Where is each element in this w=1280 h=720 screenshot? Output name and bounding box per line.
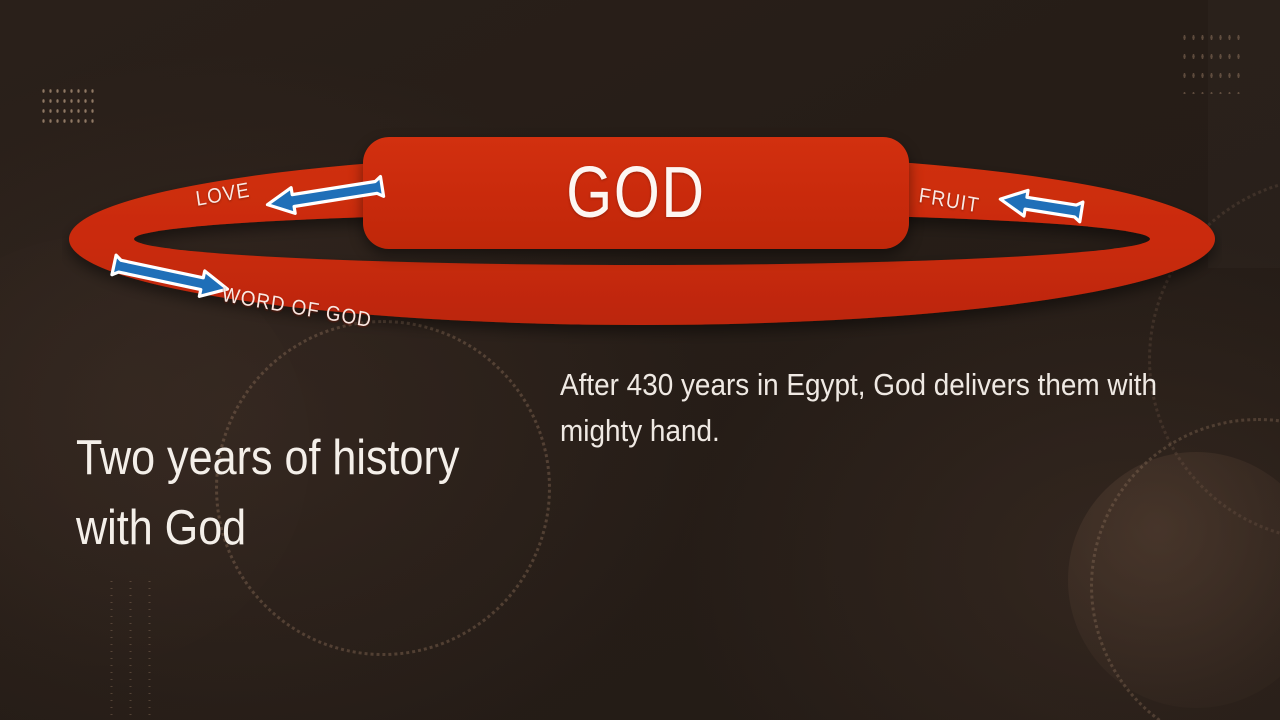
dot-grid-top-right-icon xyxy=(1180,28,1246,94)
soft-circle-right xyxy=(1068,452,1280,708)
slide-body-text: After 430 years in Egypt, God delivers t… xyxy=(560,362,1181,454)
dot-grid-top-left-icon xyxy=(40,86,96,124)
arrow-right-word-of-god xyxy=(111,252,230,302)
dotted-circle-right-icon xyxy=(1090,418,1280,720)
arrow-left-love xyxy=(265,174,384,218)
slide-canvas: GOD LOVE WORD OF GOD FRUIT Two years of … xyxy=(0,0,1280,720)
cycle-diagram: GOD LOVE WORD OF GOD FRUIT xyxy=(62,126,1222,346)
dot-lines-bottom-left-icon xyxy=(102,578,156,720)
arrow-layer xyxy=(62,126,1222,346)
slide-title: Two years of history with God xyxy=(76,424,490,563)
arrow-left-fruit xyxy=(998,186,1083,225)
background-gradient xyxy=(0,0,1280,720)
